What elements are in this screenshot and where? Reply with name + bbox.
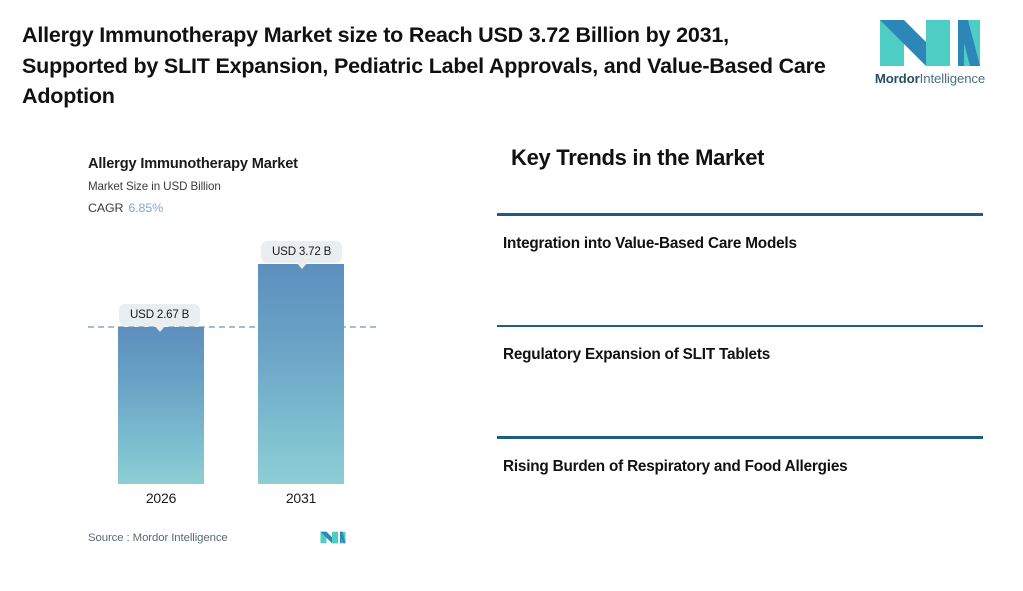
- source-row: Source : Mordor Intelligence: [88, 530, 346, 545]
- trend-item: Integration into Value-Based Care Models: [497, 213, 983, 325]
- brand-name-light: Intelligence: [920, 71, 986, 86]
- key-trends-panel: Key Trends in the Market Integration int…: [497, 145, 983, 476]
- source-label: Source : Mordor Intelligence: [88, 532, 228, 544]
- trend-label: Regulatory Expansion of SLIT Tablets: [497, 327, 983, 436]
- bar-2031: [258, 264, 344, 484]
- x-axis-label-2031: 2031: [258, 490, 344, 506]
- brand-name-bold: Mordor: [875, 71, 920, 86]
- mordor-logo-wordmark: MordorIntelligence: [856, 71, 1004, 86]
- page-title: Allergy Immunotherapy Market size to Rea…: [22, 20, 832, 112]
- mordor-logo-mark-small: [320, 530, 346, 545]
- bar-2026: [118, 327, 204, 484]
- trend-item: Rising Burden of Respiratory and Food Al…: [497, 436, 983, 476]
- infographic-page: Allergy Immunotherapy Market size to Rea…: [0, 0, 1023, 591]
- bar-chart-plot-area: USD 2.67 B USD 3.72 B 2026 2031: [0, 140, 470, 560]
- key-trends-heading: Key Trends in the Market: [511, 145, 983, 171]
- chart-panel: Allergy Immunotherapy Market Market Size…: [0, 140, 470, 560]
- trend-label: Integration into Value-Based Care Models: [497, 216, 983, 325]
- mordor-intelligence-logo: MordorIntelligence: [856, 18, 1004, 90]
- value-callout-2026: USD 2.67 B: [119, 304, 200, 326]
- mordor-logo-mark: [878, 18, 982, 68]
- value-callout-2031: USD 3.72 B: [261, 241, 342, 263]
- trend-label: Rising Burden of Respiratory and Food Al…: [497, 439, 983, 476]
- trend-item: Regulatory Expansion of SLIT Tablets: [497, 325, 983, 437]
- x-axis-label-2026: 2026: [118, 490, 204, 506]
